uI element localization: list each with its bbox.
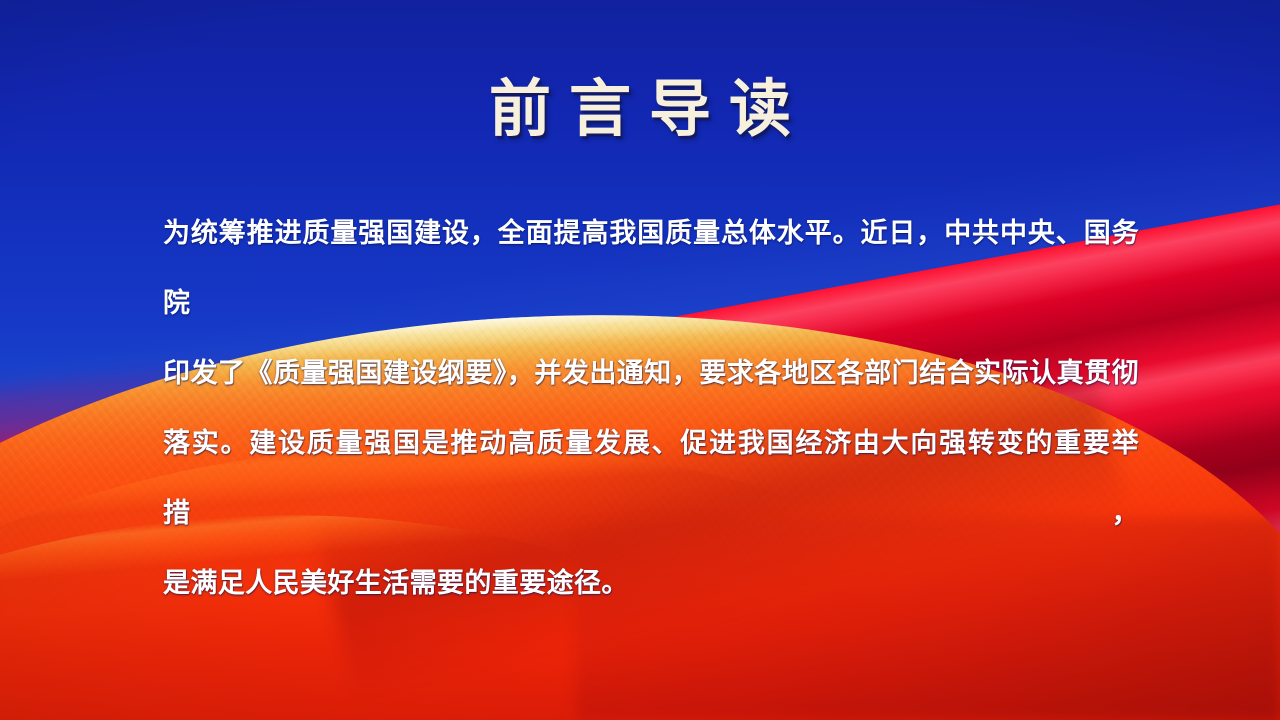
body-line: 印发了《质量强国建设纲要》，并发出通知，要求各地区各部门结合实际认真贯彻 bbox=[163, 338, 1139, 408]
slide-canvas: 前言导读 为统筹推进质量强国建设，全面提高我国质量总体水平。近日，中共中央、国务… bbox=[0, 0, 1280, 720]
slide-title: 前言导读 bbox=[0, 78, 1280, 143]
body-line: 为统筹推进质量强国建设，全面提高我国质量总体水平。近日，中共中央、国务院 bbox=[163, 198, 1139, 338]
body-line: 是满足人民美好生活需要的重要途径。 bbox=[163, 548, 1139, 618]
body-line: 落实。建设质量强国是推动高质量发展、促进我国经济由大向强转变的重要举措， bbox=[163, 408, 1139, 548]
slide-content: 前言导读 为统筹推进质量强国建设，全面提高我国质量总体水平。近日，中共中央、国务… bbox=[0, 0, 1280, 720]
body-paragraph: 为统筹推进质量强国建设，全面提高我国质量总体水平。近日，中共中央、国务院 印发了… bbox=[163, 198, 1139, 618]
